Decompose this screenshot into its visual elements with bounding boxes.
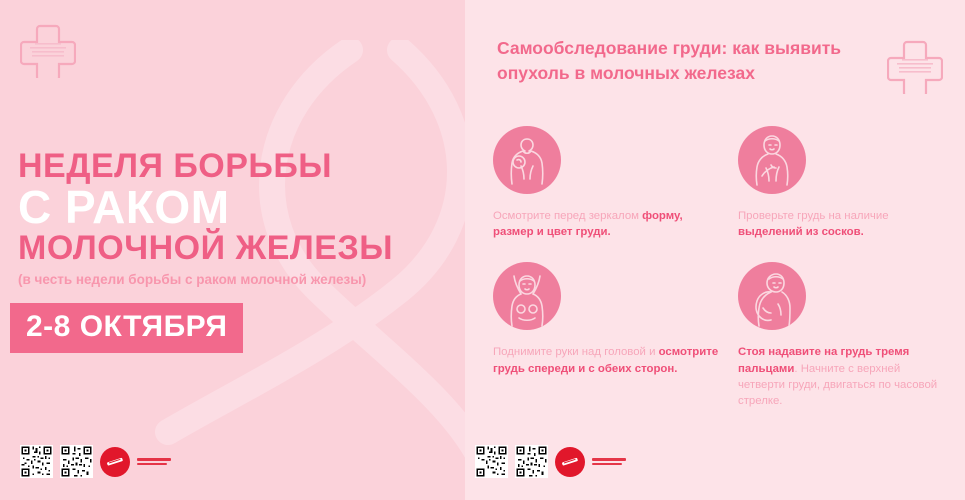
red-round-stamp (100, 447, 130, 477)
tip-text-lead: Осмотрите перед зеркалом (493, 210, 642, 222)
tip-item: Проверьте грудь на наличие выделений из … (738, 126, 953, 240)
qr-code[interactable] (60, 445, 93, 478)
headline: НЕДЕЛЯ БОРЬБЫ С РАКОМ МОЛОЧНОЙ ЖЕЛЕЗЫ (18, 150, 448, 266)
left-panel: НЕДЕЛЯ БОРЬБЫ С РАКОМ МОЛОЧНОЙ ЖЕЛЕЗЫ (в… (0, 0, 465, 500)
tip-text: Поднимите руки над головой и осмотрите г… (493, 344, 724, 376)
tips-grid: Осмотрите перед зеркалом форму, размер и… (493, 126, 953, 409)
footer-qr-group-right (475, 445, 626, 478)
tip-text: Стоя надавите на грудь тремя пальцами. Н… (738, 344, 939, 409)
subtitle: (в честь недели борьбы с раком молочной … (18, 272, 438, 287)
qr-code[interactable] (515, 445, 548, 478)
stamp-caption (137, 458, 171, 465)
section-title: Самообследование груди: как выявить опух… (497, 36, 867, 86)
red-round-stamp (555, 447, 585, 477)
tip-text: Осмотрите перед зеркалом форму, размер и… (493, 208, 724, 240)
woman-mirror-icon (493, 126, 561, 194)
tip-item: Осмотрите перед зеркалом форму, размер и… (493, 126, 738, 240)
stamp-caption (592, 458, 626, 465)
headline-line-2: С РАКОМ (18, 185, 448, 230)
poster: НЕДЕЛЯ БОРЬБЫ С РАКОМ МОЛОЧНОЙ ЖЕЛЕЗЫ (в… (0, 0, 965, 500)
tip-text-lead: Поднимите руки над головой и (493, 346, 659, 358)
date-badge: 2-8 ОКТЯБРЯ (10, 303, 243, 353)
tip-text-bold: выделений из сосков. (738, 226, 864, 238)
qr-code[interactable] (20, 445, 53, 478)
qr-code[interactable] (475, 445, 508, 478)
woman-palpation-icon (738, 262, 806, 330)
headline-line-3: МОЛОЧНОЙ ЖЕЛЕЗЫ (18, 232, 448, 265)
woman-nipple-check-icon (738, 126, 806, 194)
tip-text: Проверьте грудь на наличие выделений из … (738, 208, 939, 240)
right-panel: Самообследование груди: как выявить опух… (465, 0, 965, 500)
tip-text-lead: Проверьте грудь на наличие (738, 210, 889, 222)
woman-arms-raised-icon (493, 262, 561, 330)
footer-qr-group-left (20, 445, 171, 478)
tip-item: Поднимите руки над головой и осмотрите г… (493, 262, 738, 409)
tip-item: Стоя надавите на грудь тремя пальцами. Н… (738, 262, 953, 409)
medical-cross-logo (887, 38, 943, 94)
medical-cross-logo (20, 22, 76, 78)
headline-line-1: НЕДЕЛЯ БОРЬБЫ (18, 150, 448, 183)
date-badge-label: 2-8 ОКТЯБРЯ (26, 310, 227, 343)
